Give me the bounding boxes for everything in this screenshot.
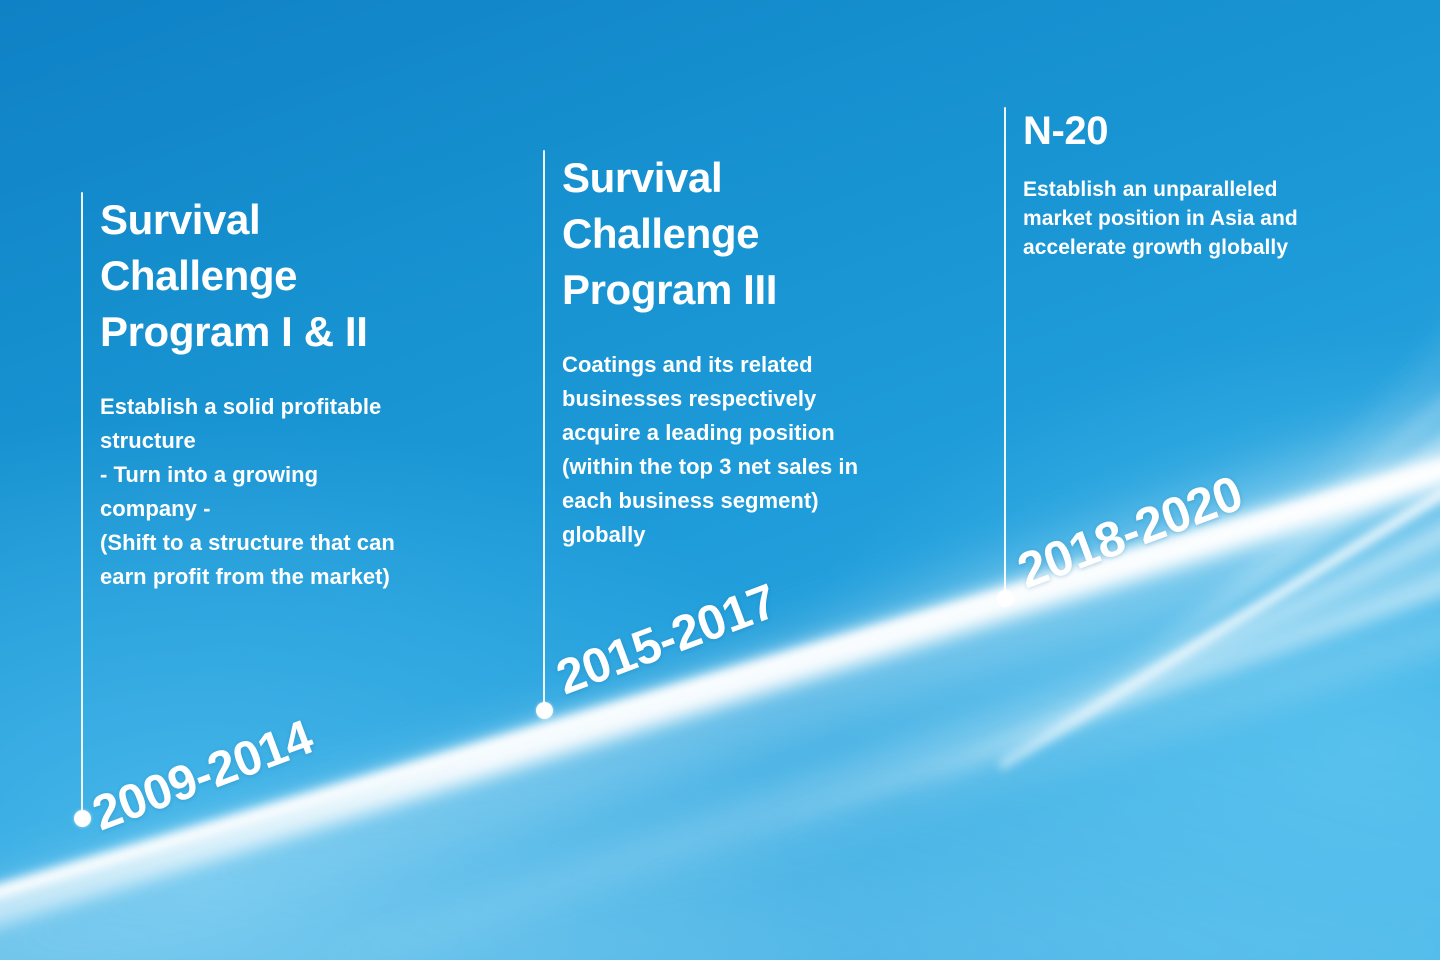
milestone-content: N-20 Establish an unparalleled market po… xyxy=(1023,107,1423,262)
timeline-rail xyxy=(1004,107,1006,598)
infographic-canvas: Survival Challenge Program I & II Establ… xyxy=(0,0,1440,960)
milestone-heading: Survival Challenge Program I & II xyxy=(100,192,520,360)
spacer xyxy=(562,318,982,348)
timeline-rail xyxy=(543,150,545,710)
milestone-content: Survival Challenge Program I & II Establ… xyxy=(100,192,520,594)
timeline-dot xyxy=(74,810,91,827)
milestone-heading: Survival Challenge Program III xyxy=(562,150,982,318)
milestone-heading: N-20 xyxy=(1023,107,1423,155)
spacer xyxy=(100,360,520,390)
timeline-rail xyxy=(81,192,83,818)
milestone-description: Coatings and its related businesses resp… xyxy=(562,348,982,552)
milestone-content: Survival Challenge Program III Coatings … xyxy=(562,150,982,552)
spacer xyxy=(1023,155,1423,175)
milestone-description: Establish a solid profitable structure -… xyxy=(100,390,520,594)
timeline-dot xyxy=(536,702,553,719)
timeline-dot xyxy=(997,590,1014,607)
milestone-description: Establish an unparalleled market positio… xyxy=(1023,175,1423,262)
